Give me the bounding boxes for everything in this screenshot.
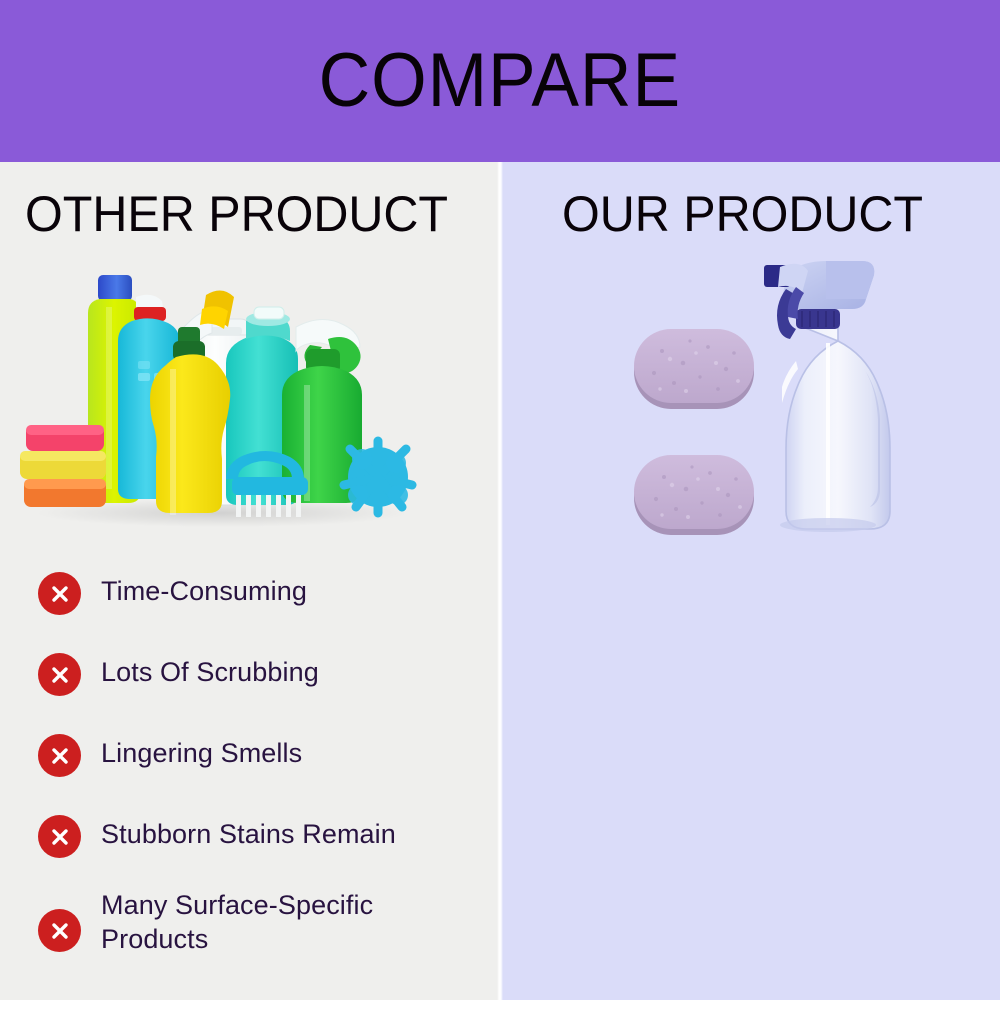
our-product-column: OUR PRODUCT: [500, 162, 1000, 1000]
our-product-heading: OUR PRODUCT: [562, 189, 987, 239]
other-product-image: [0, 245, 500, 550]
list-item: Many Surface-Specific Products: [0, 882, 500, 978]
list-item: Time-Consuming: [0, 558, 500, 639]
other-product-column: OTHER PRODUCT: [0, 162, 500, 1000]
comparison-columns: OTHER PRODUCT: [0, 162, 1000, 1000]
column-divider: [497, 162, 503, 1000]
page-title: COMPARE: [319, 43, 682, 119]
x-circle-icon: [38, 572, 81, 615]
our-product-image: [500, 243, 1000, 548]
x-circle-icon: [38, 815, 81, 858]
tablets-and-spray-bottle-illustration: [620, 243, 960, 543]
spray-bottle: [764, 261, 890, 532]
cleaning-supplies-illustration: [10, 245, 430, 535]
x-circle-icon: [38, 653, 81, 696]
list-item: Lingering Smells: [0, 720, 500, 801]
list-item-label: Lingering Smells: [101, 736, 302, 770]
list-item-label: Lots Of Scrubbing: [101, 655, 319, 689]
x-circle-icon: [38, 734, 81, 777]
other-product-heading: OTHER PRODUCT: [25, 189, 486, 239]
x-circle-icon: [38, 909, 81, 952]
list-item-label: Time-Consuming: [101, 574, 307, 608]
effervescent-tablet: [634, 455, 754, 535]
compare-infographic: COMPARE OTHER PRODUCT: [0, 0, 1000, 1000]
our-product-feature-list: Clean In Minutes Stains Gone With A Wipe: [500, 548, 1000, 1000]
list-item: Stubborn Stains Remain: [0, 801, 500, 882]
list-item-label: Many Surface-Specific Products: [101, 888, 481, 956]
other-product-feature-list: Time-Consuming Lots Of Scrubbing: [0, 550, 500, 1000]
effervescent-tablet: [634, 329, 754, 409]
header-banner: COMPARE: [0, 0, 1000, 162]
list-item: Lots Of Scrubbing: [0, 639, 500, 720]
list-item-label: Stubborn Stains Remain: [101, 817, 396, 851]
